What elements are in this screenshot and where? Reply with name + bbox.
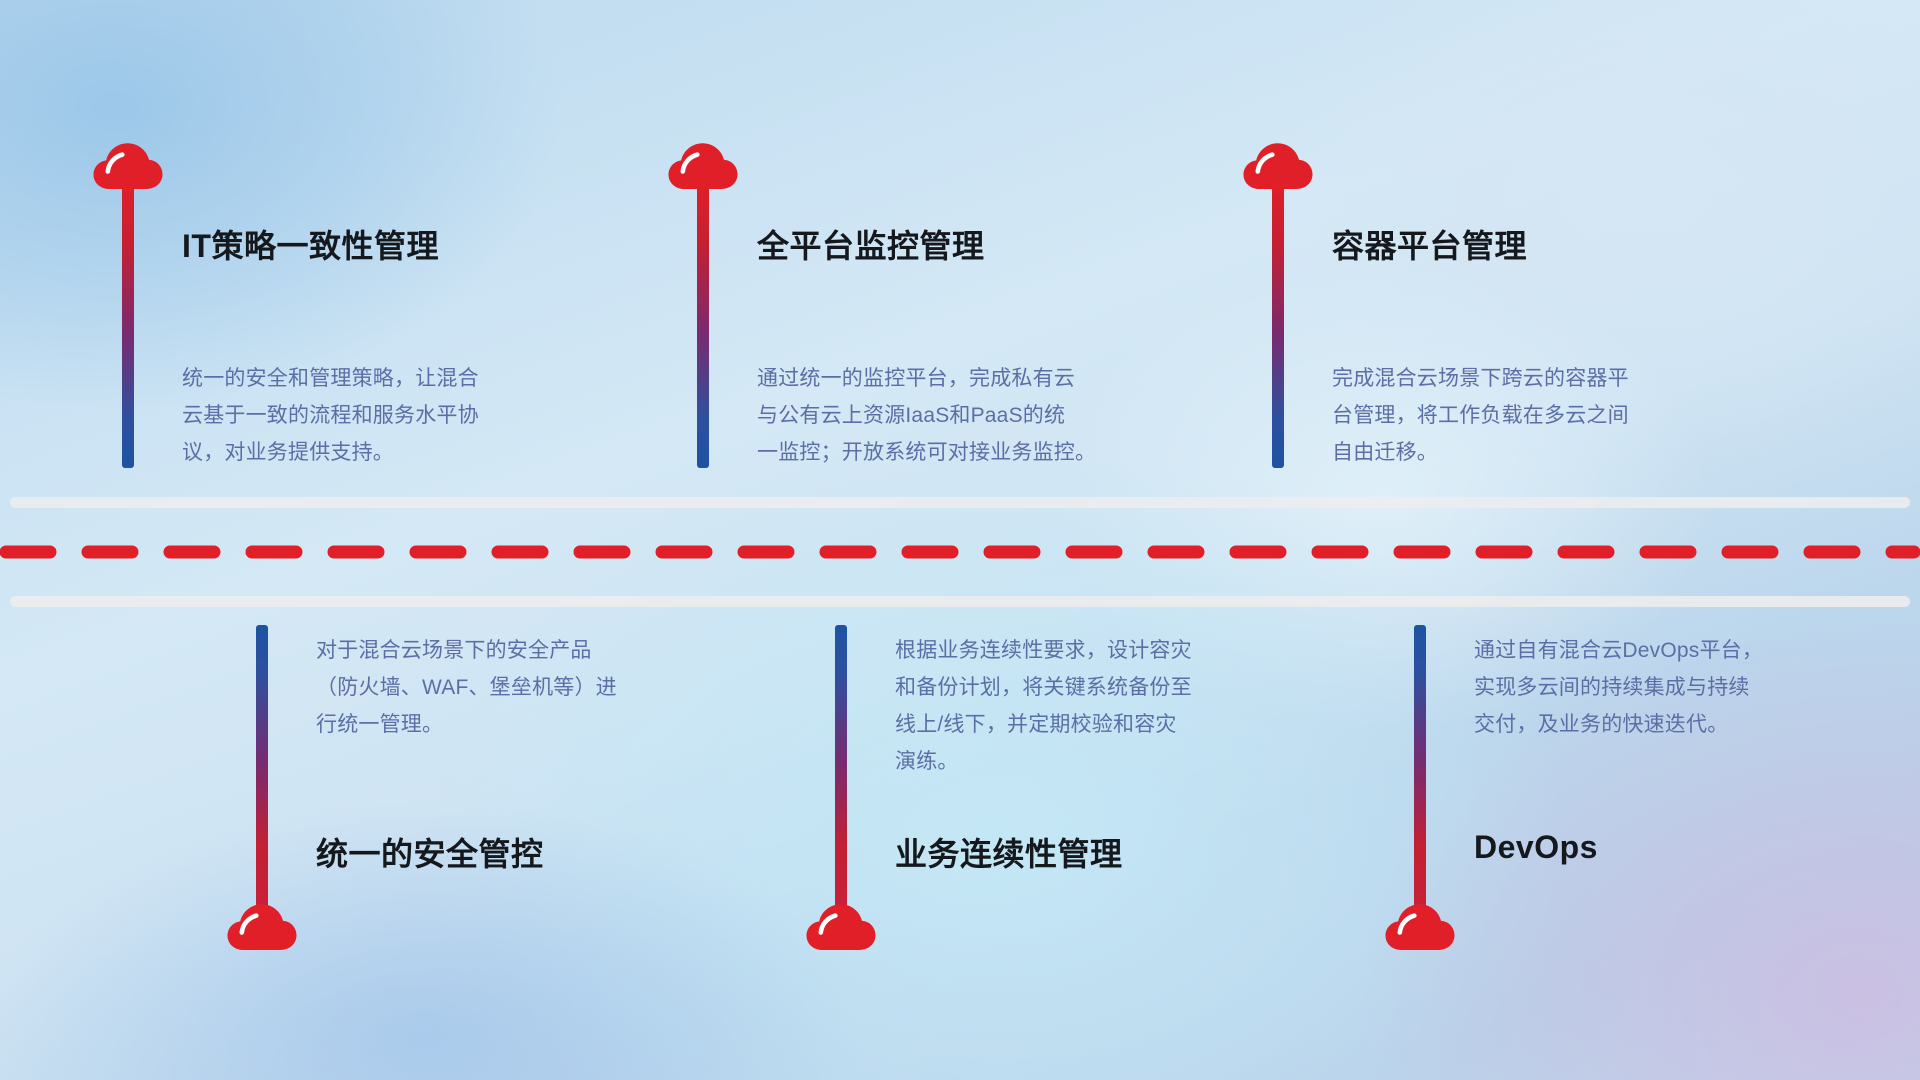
body-line: 一监控；开放系统可对接业务监控。: [757, 434, 1197, 471]
body-line: 与公有云上资源IaaS和PaaS的统: [757, 397, 1197, 434]
column-marker-full-platform-monitoring: [697, 185, 709, 468]
body-line: （防火墙、WAF、堡垒机等）进: [316, 669, 736, 706]
marker-stem: [122, 185, 134, 468]
cloud-icon: [226, 902, 298, 952]
cloud-icon: [1242, 141, 1314, 191]
column-body-business-continuity: 根据业务连续性要求，设计容灾 和备份计划，将关键系统备份至 线上/线下，并定期校…: [895, 632, 1325, 780]
body-line: 和备份计划，将关键系统备份至: [895, 669, 1325, 706]
marker-stem: [835, 625, 847, 908]
marker-stem: [1414, 625, 1426, 908]
body-line: 台管理，将工作负载在多云之间: [1332, 397, 1762, 434]
body-line: 议，对业务提供支持。: [182, 434, 612, 471]
body-line: 云基于一致的流程和服务水平协: [182, 397, 612, 434]
body-line: 自由迁移。: [1332, 434, 1762, 471]
marker-stem: [1272, 185, 1284, 468]
body-line: 行统一管理。: [316, 706, 736, 743]
cloud-icon: [1384, 902, 1456, 952]
body-line: 完成混合云场景下跨云的容器平: [1332, 360, 1762, 397]
cloud-icon: [667, 141, 739, 191]
column-marker-it-policy-consistency: [122, 185, 134, 468]
column-body-devops: 通过自有混合云DevOps平台， 实现多云间的持续集成与持续 交付，及业务的快速…: [1474, 632, 1894, 743]
body-line: 线上/线下，并定期校验和容灾: [895, 706, 1325, 743]
white-divider-bottom: [10, 596, 1910, 607]
body-line: 实现多云间的持续集成与持续: [1474, 669, 1894, 706]
body-line: 交付，及业务的快速迭代。: [1474, 706, 1894, 743]
column-body-unified-security: 对于混合云场景下的安全产品 （防火墙、WAF、堡垒机等）进 行统一管理。: [316, 632, 736, 743]
column-marker-devops: [1414, 625, 1426, 908]
body-line: 根据业务连续性要求，设计容灾: [895, 632, 1325, 669]
column-title-business-continuity: 业务连续性管理: [895, 829, 1123, 875]
body-line: 对于混合云场景下的安全产品: [316, 632, 736, 669]
body-line: 演练。: [895, 743, 1325, 780]
column-marker-container-platform: [1272, 185, 1284, 468]
column-title-it-policy-consistency: IT策略一致性管理: [182, 221, 439, 267]
cloud-icon: [805, 902, 877, 952]
marker-stem: [697, 185, 709, 468]
column-marker-unified-security: [256, 625, 268, 908]
body-line: 通过自有混合云DevOps平台，: [1474, 632, 1894, 669]
column-body-container-platform: 完成混合云场景下跨云的容器平 台管理，将工作负载在多云之间 自由迁移。: [1332, 360, 1762, 471]
body-line: 统一的安全和管理策略，让混合: [182, 360, 612, 397]
column-body-it-policy-consistency: 统一的安全和管理策略，让混合 云基于一致的流程和服务水平协 议，对业务提供支持。: [182, 360, 612, 471]
column-title-full-platform-monitoring: 全平台监控管理: [757, 221, 985, 267]
red-dashed-divider: [0, 545, 1920, 559]
cloud-icon: [92, 141, 164, 191]
column-body-full-platform-monitoring: 通过统一的监控平台，完成私有云 与公有云上资源IaaS和PaaS的统 一监控；开…: [757, 360, 1197, 471]
infographic-canvas: IT策略一致性管理 统一的安全和管理策略，让混合 云基于一致的流程和服务水平协 …: [0, 0, 1920, 1080]
column-marker-business-continuity: [835, 625, 847, 908]
body-line: 通过统一的监控平台，完成私有云: [757, 360, 1197, 397]
column-title-container-platform: 容器平台管理: [1332, 221, 1527, 267]
column-title-devops: DevOps: [1474, 829, 1598, 866]
marker-stem: [256, 625, 268, 908]
column-title-unified-security: 统一的安全管控: [316, 829, 544, 875]
white-divider-top: [10, 497, 1910, 508]
